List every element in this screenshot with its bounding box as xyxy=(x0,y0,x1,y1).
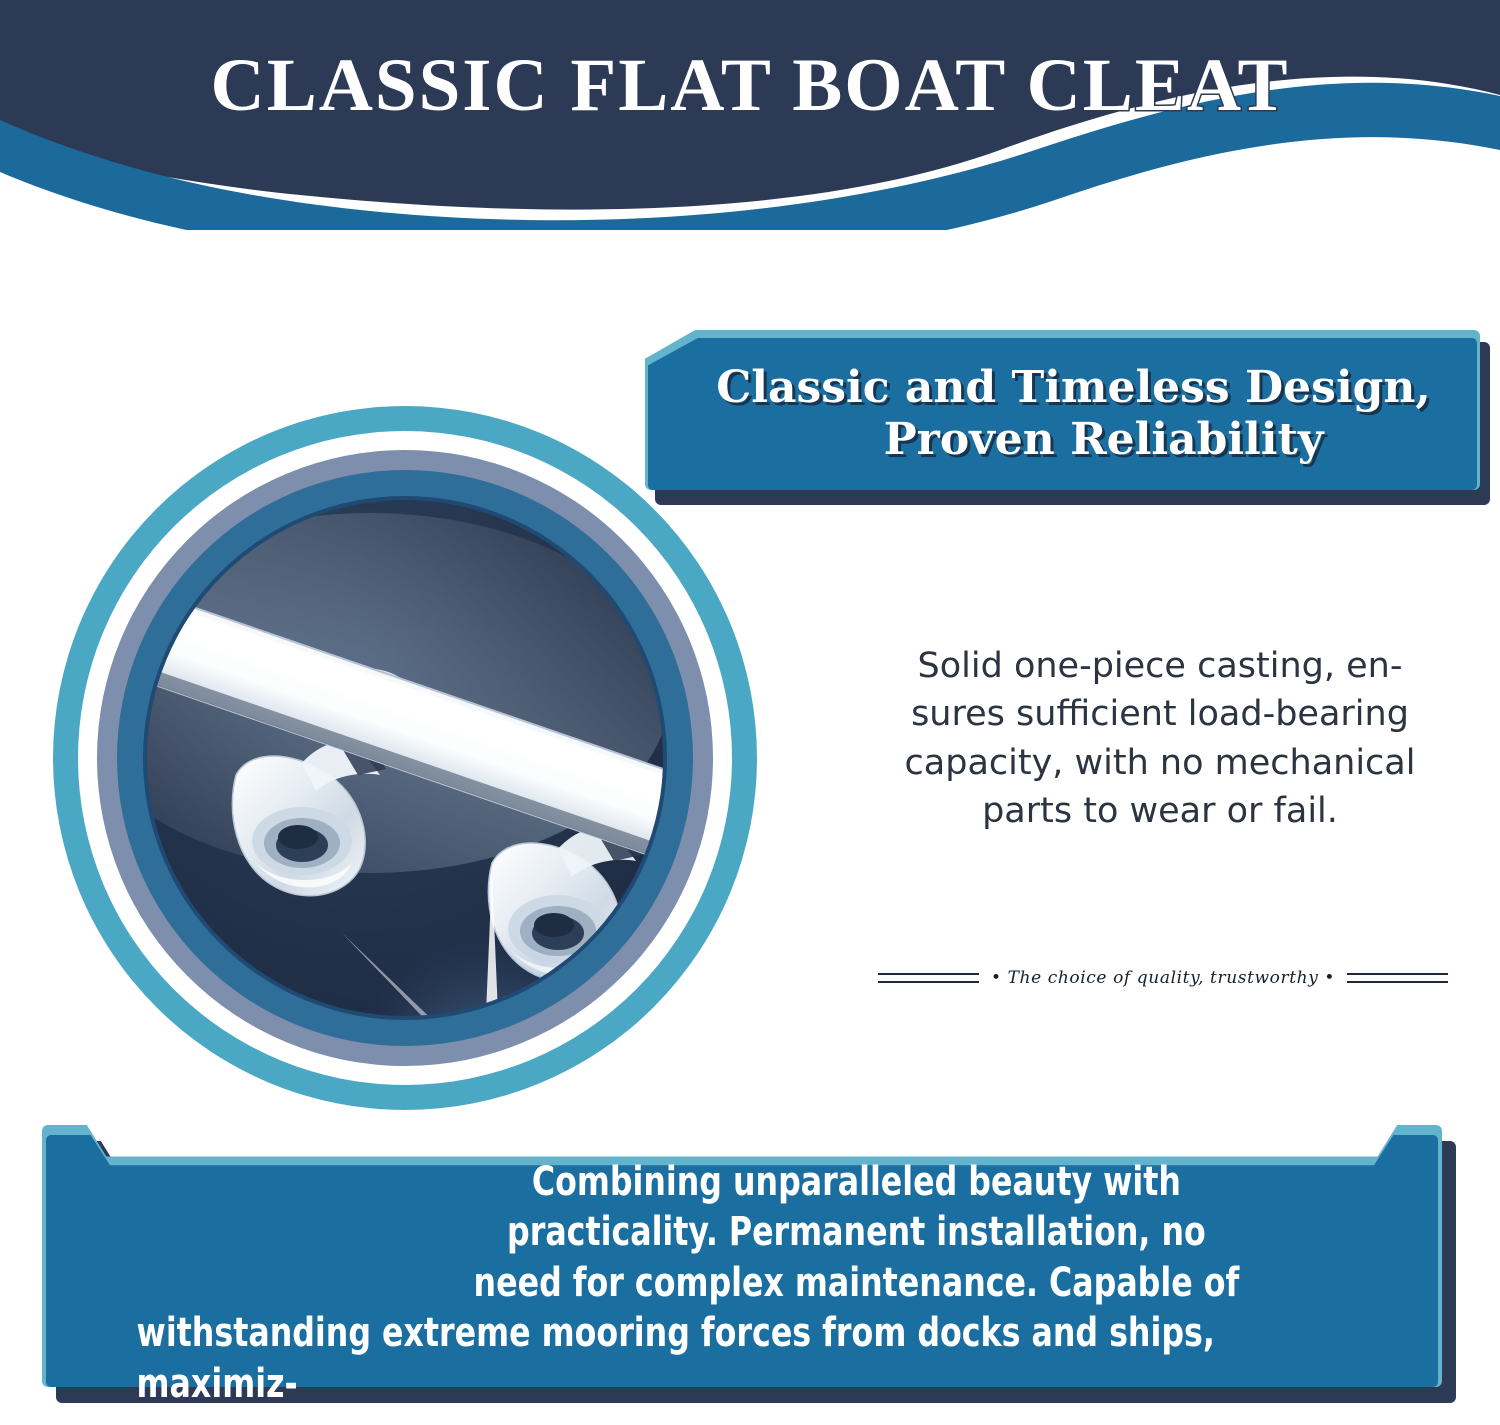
bottom-line-5: ing safety—the undisputed choice for mar… xyxy=(130,1409,1355,1425)
infographic-root: CLASSIC FLAT BOAT CLEAT xyxy=(0,0,1500,1425)
feature-description: Solid one-piece casting, en-sures suffic… xyxy=(895,642,1425,835)
bottom-banner: Combining unparalleled beauty with pract… xyxy=(42,1125,1462,1403)
header-band: CLASSIC FLAT BOAT CLEAT xyxy=(0,0,1500,230)
tagline-divider: • The choice of quality, trustworthy • xyxy=(878,968,1448,988)
tagline-text: • The choice of quality, trustworthy • xyxy=(991,968,1335,988)
headline-banner: Classic and Timeless Design, Proven Reli… xyxy=(645,330,1490,505)
bottom-line-4: withstanding extreme mooring forces from… xyxy=(130,1308,1355,1409)
header-wave-graphic xyxy=(0,0,1500,230)
headline-line-2: Proven Reliability xyxy=(884,414,1324,466)
headline-banner-text: Classic and Timeless Design, Proven Reli… xyxy=(648,338,1477,490)
tagline-rule-left xyxy=(878,973,979,983)
headline-line-1: Classic and Timeless Design, xyxy=(716,362,1430,414)
bottom-line-1: Combining unparalleled beauty with xyxy=(130,1157,1355,1207)
bottom-banner-text: Combining unparalleled beauty with pract… xyxy=(130,1135,1355,1425)
tagline-rule-right xyxy=(1347,973,1448,983)
bottom-line-2: practicality. Permanent installation, no xyxy=(130,1207,1355,1257)
bottom-line-3: need for complex maintenance. Capable of xyxy=(130,1258,1355,1308)
